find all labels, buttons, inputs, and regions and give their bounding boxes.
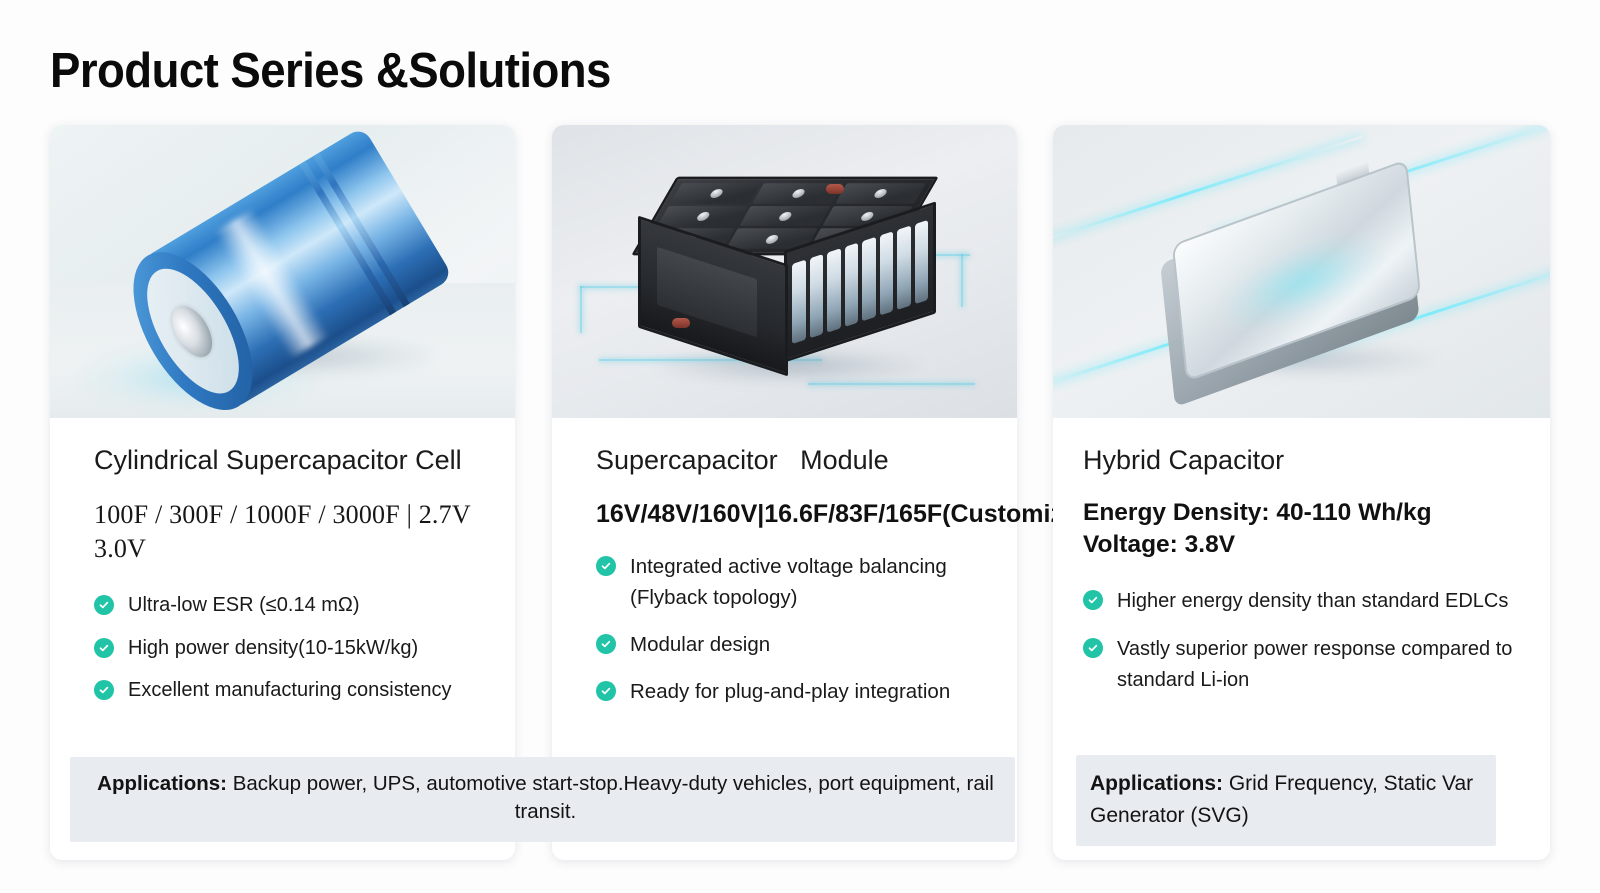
check-circle-icon — [596, 634, 616, 654]
check-circle-icon — [94, 680, 114, 700]
list-item: Modular design — [596, 630, 987, 660]
product-image-supercapacitor-module — [552, 125, 1017, 418]
check-circle-icon — [94, 638, 114, 658]
module-terminal — [672, 318, 690, 328]
feature-text: High power density(10-15kW/kg) — [128, 637, 418, 659]
check-circle-icon — [596, 556, 616, 576]
card-spec: Energy Density: 40-110 Wh/kg Voltage: 3.… — [1083, 497, 1520, 560]
feature-text: Vastly superior power response compared … — [1117, 638, 1512, 691]
feature-text: Integrated active voltage balancing (Fly… — [630, 555, 947, 608]
check-circle-icon — [1083, 638, 1103, 658]
module-cylindrical-cell — [879, 230, 893, 315]
list-item: Excellent manufacturing consistency — [94, 676, 485, 706]
product-card-hybrid-capacitor[interactable]: Hybrid Capacitor Energy Density: 40-110 … — [1053, 125, 1550, 860]
tech-line — [580, 286, 582, 333]
module-cylindrical-cell — [914, 219, 928, 304]
tech-line — [808, 383, 975, 385]
applications-text: Backup power, UPS, automotive start-stop… — [227, 772, 994, 823]
module-cylindrical-cell — [897, 225, 911, 310]
slide-root: Product Series &Solutions — [0, 0, 1600, 893]
card-body: Hybrid Capacitor Energy Density: 40-110 … — [1053, 418, 1550, 713]
check-circle-icon — [94, 595, 114, 615]
applications-label: Applications: — [97, 772, 227, 795]
card-spec: 100F / 300F / 1000F / 3000F | 2.7V 3.0V — [94, 498, 485, 565]
module-cell — [739, 205, 830, 225]
card-title: Supercapacitor Module — [596, 444, 987, 476]
card-body: Supercapacitor Module 16V/48V/160V|16.6F… — [552, 418, 1017, 725]
module-cylindrical-cell — [809, 253, 823, 338]
product-card-supercapacitor-module[interactable]: Supercapacitor Module 16V/48V/160V|16.6F… — [552, 125, 1017, 860]
feature-list: Higher energy density than standard EDLC… — [1083, 586, 1520, 696]
module-graphic — [620, 168, 950, 368]
check-circle-icon — [596, 681, 616, 701]
module-cell — [834, 183, 925, 203]
applications-box-cell-module: Applications: Backup power, UPS, automot… — [70, 757, 1015, 842]
list-item: High power density(10-15kW/kg) — [94, 634, 485, 664]
list-item: Vastly superior power response compared … — [1083, 634, 1520, 696]
check-circle-icon — [1083, 590, 1103, 610]
applications-box-hybrid: Applications: Grid Frequency, Static Var… — [1076, 755, 1496, 846]
feature-list: Ultra-low ESR (≤0.14 mΩ) High power dens… — [94, 591, 485, 706]
list-item: Higher energy density than standard EDLC… — [1083, 586, 1520, 617]
card-title: Hybrid Capacitor — [1083, 444, 1520, 476]
list-item: Integrated active voltage balancing (Fly… — [596, 552, 987, 613]
card-body: Cylindrical Supercapacitor Cell 100F / 3… — [50, 418, 515, 719]
list-item: Ready for plug-and-play integration — [596, 677, 987, 707]
product-image-cylindrical-cell — [50, 125, 515, 418]
product-card-cylindrical-cell[interactable]: Cylindrical Supercapacitor Cell 100F / 3… — [50, 125, 515, 860]
module-cell — [657, 205, 748, 225]
card-title: Cylindrical Supercapacitor Cell — [94, 444, 485, 476]
module-cylindrical-cell — [827, 247, 841, 332]
feature-text: Ready for plug-and-play integration — [630, 680, 950, 703]
card-spec: 16V/48V/160V|16.6F/83F/165F(Customizable… — [596, 498, 987, 530]
module-cell — [670, 183, 761, 203]
applications-label: Applications: — [1090, 772, 1223, 795]
module-cylindrical-cell — [844, 242, 858, 327]
module-cylindrical-cell — [792, 259, 806, 344]
feature-text: Higher energy density than standard EDLC… — [1117, 590, 1508, 612]
product-image-hybrid-capacitor — [1053, 125, 1550, 418]
tech-line — [961, 254, 963, 307]
list-item: Ultra-low ESR (≤0.14 mΩ) — [94, 591, 485, 621]
product-card-grid: Cylindrical Supercapacitor Cell 100F / 3… — [0, 125, 1600, 865]
module-terminal — [826, 184, 844, 194]
feature-text: Ultra-low ESR (≤0.14 mΩ) — [128, 594, 360, 616]
module-cylindrical-cell — [862, 236, 876, 321]
page-title: Product Series &Solutions — [50, 43, 611, 99]
feature-list: Integrated active voltage balancing (Fly… — [596, 552, 987, 707]
feature-text: Excellent manufacturing consistency — [128, 679, 452, 701]
feature-text: Modular design — [630, 633, 770, 656]
